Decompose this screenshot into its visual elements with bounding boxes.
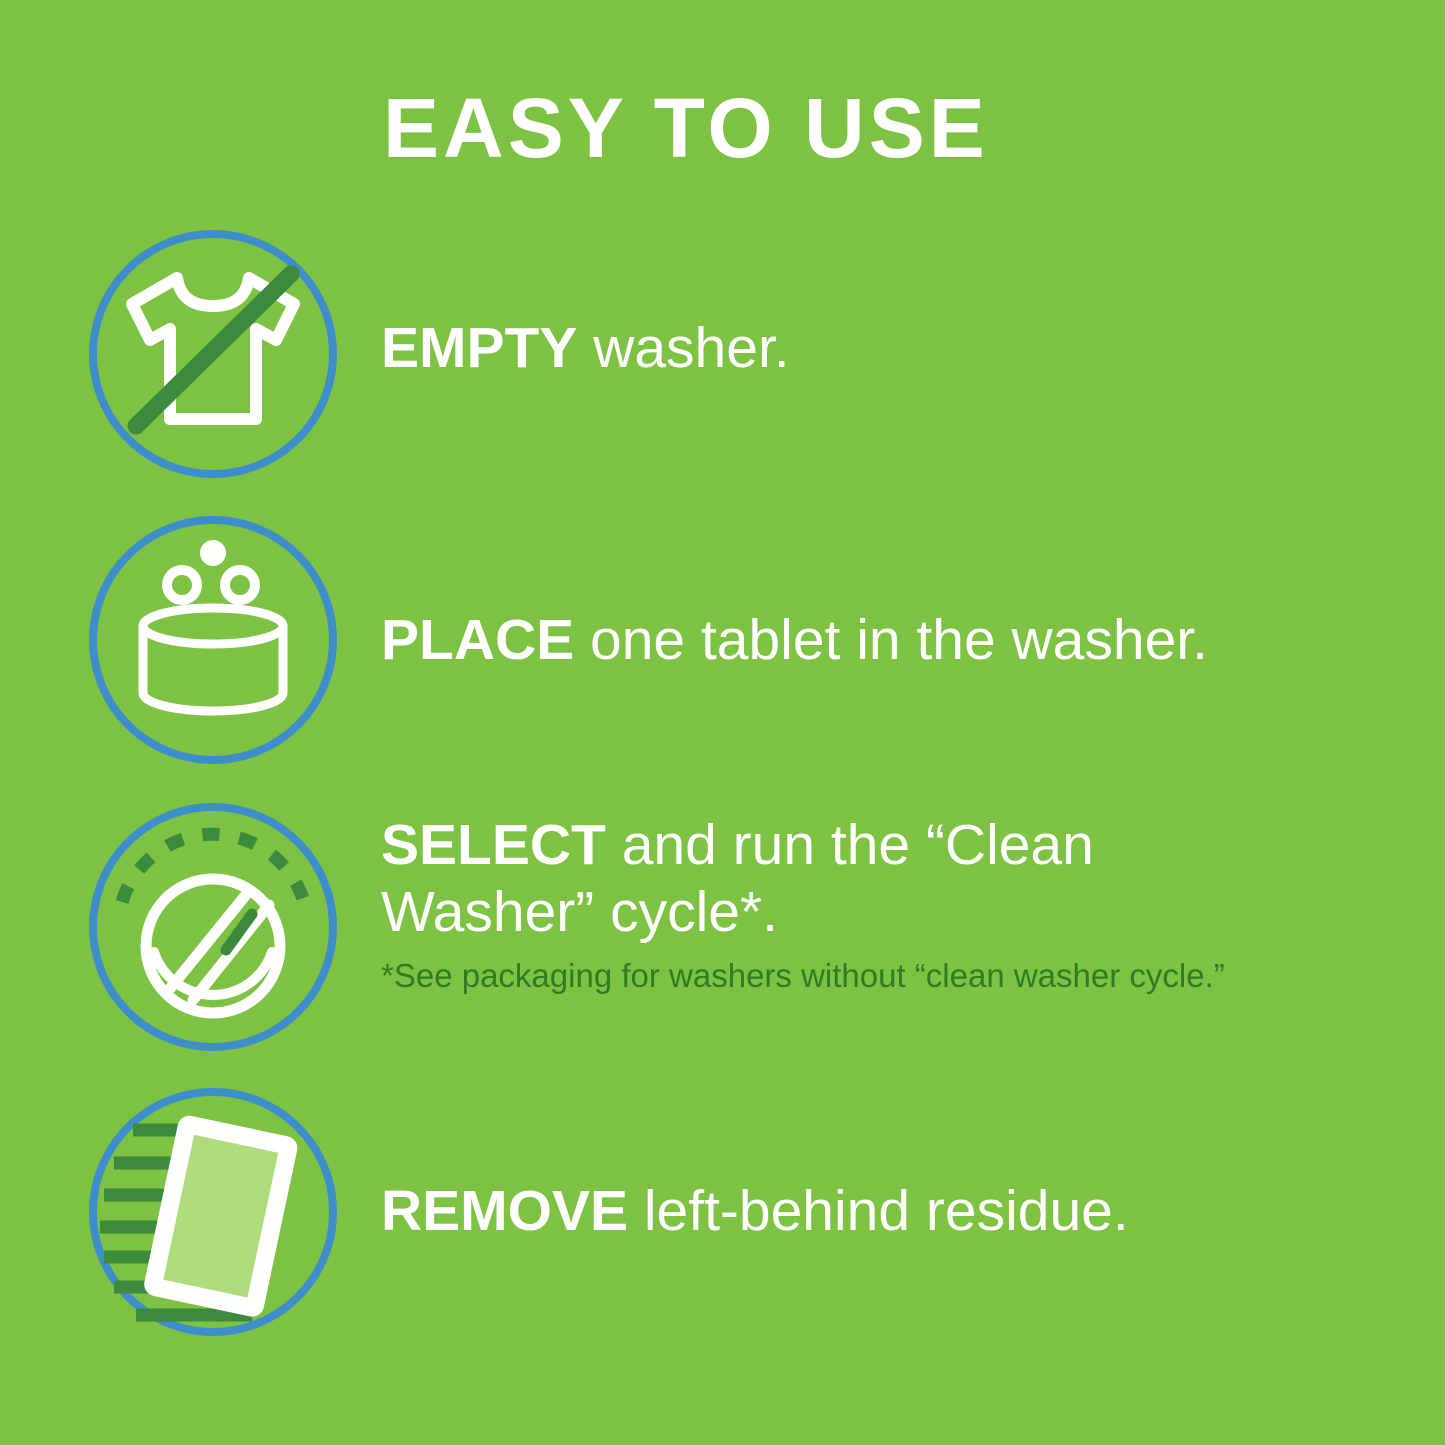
step-lead-place: PLACE (381, 608, 574, 672)
step-text-empty: EMPTY washer. (381, 315, 1281, 382)
step-rest-remove: left-behind residue. (628, 1179, 1129, 1243)
washer-dial-knob-icon (86, 800, 340, 1054)
tablet-puck-with-bubbles-icon (86, 513, 340, 767)
page-title: EASY TO USE (383, 84, 989, 172)
step-lead-empty: EMPTY (381, 316, 577, 380)
step-text-place: PLACE one tablet in the washer. (381, 607, 1281, 674)
step-rest-place: one tablet in the washer. (574, 608, 1208, 672)
step-lead-select: SELECT (381, 813, 606, 877)
step-text-select: SELECT and run the “Clean Washer” cycle*… (381, 812, 1281, 947)
step-text-remove: REMOVE left-behind residue. (381, 1178, 1281, 1245)
step-footnote-select: *See packaging for washers without “clea… (381, 955, 1271, 997)
wipe-cloth-motion-icon (86, 1085, 340, 1339)
no-clothes-tshirt-icon (86, 227, 340, 481)
step-lead-remove: REMOVE (381, 1179, 628, 1243)
step-rest-empty: washer. (577, 316, 789, 380)
easy-to-use-infographic: EASY TO USE EMPTY washer. (0, 0, 1445, 1445)
